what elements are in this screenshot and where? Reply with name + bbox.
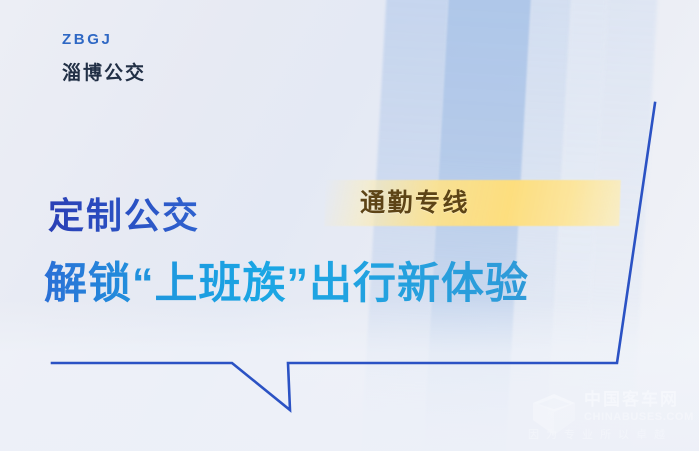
watermark-slogan: 因为专业所以卓越 bbox=[528, 430, 672, 441]
brand-abbreviation: ZBGJ bbox=[62, 32, 146, 47]
highlight-badge-label: 通勤专线 bbox=[360, 190, 470, 218]
watermark-english-text: CHINABUSES.COM bbox=[584, 412, 694, 423]
brand-block: ZBGJ 淄博公交 bbox=[62, 32, 146, 83]
headline-line-2: 解锁“上班族”出行新体验 bbox=[44, 260, 529, 309]
brand-name: 淄博公交 bbox=[62, 64, 146, 83]
headline-line-1: 定制公交 bbox=[48, 196, 200, 236]
watermark-chinese-text: 中国客车网 bbox=[584, 391, 679, 408]
promo-poster: ZBGJ 淄博公交 通勤专线 定制公交 解锁“上班族”出行新体验 中国客车网 C… bbox=[0, 0, 699, 451]
watermark: 中国客车网 CHINABUSES.COM 因为专业所以卓越 bbox=[524, 386, 696, 448]
